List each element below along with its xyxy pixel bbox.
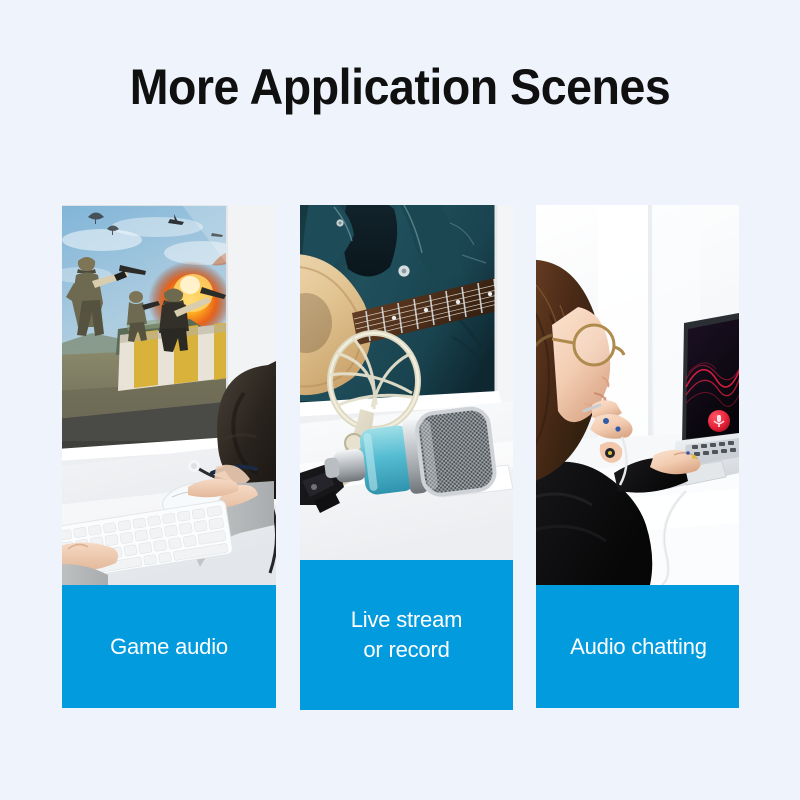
caption-line: Game audio bbox=[110, 632, 228, 662]
live-stream-record-scene bbox=[300, 205, 513, 560]
scene-card-live-stream-or-record[interactable]: Live stream or record bbox=[300, 205, 513, 710]
game-audio-scene: AOC bbox=[62, 205, 276, 585]
caption-line: Audio chatting bbox=[570, 632, 707, 662]
scene-card-audio-chatting[interactable]: Audio chatting bbox=[536, 205, 739, 708]
caption-live-stream-or-record: Live stream or record bbox=[300, 560, 513, 710]
caption-line: Live stream bbox=[351, 605, 463, 635]
caption-line: or record bbox=[363, 635, 449, 665]
audio-chatting-scene bbox=[536, 205, 739, 585]
audio-chatting-photo bbox=[536, 205, 739, 585]
caption-game-audio: Game audio bbox=[62, 585, 276, 708]
page-root: More Application Scenes bbox=[0, 0, 800, 800]
game-audio-photo: AOC bbox=[62, 205, 276, 585]
caption-audio-chatting: Audio chatting bbox=[536, 585, 739, 708]
scene-card-game-audio[interactable]: AOC bbox=[62, 205, 276, 708]
live-stream-record-photo bbox=[300, 205, 513, 560]
page-title: More Application Scenes bbox=[28, 58, 772, 116]
